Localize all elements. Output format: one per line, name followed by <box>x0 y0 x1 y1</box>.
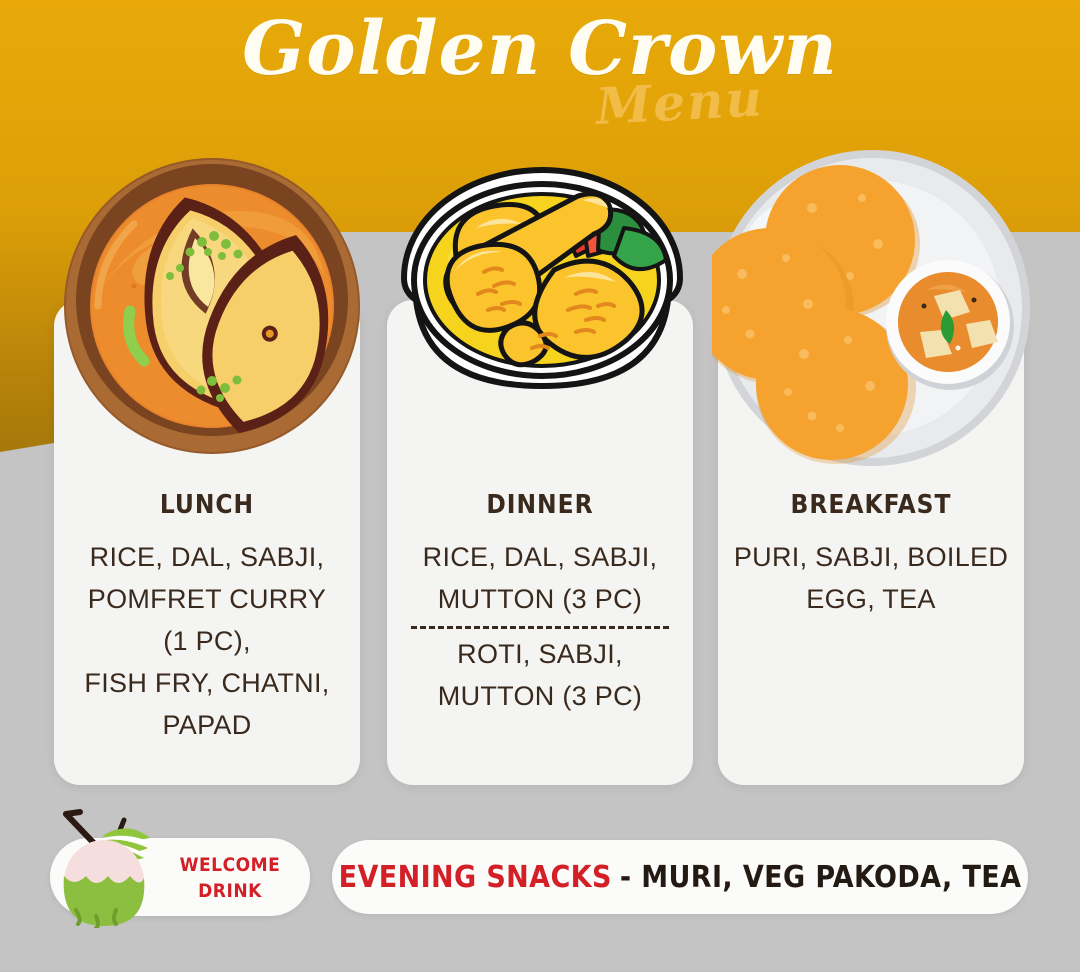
menu-card-lunch: LUNCH RICE, DAL, SABJI, POMFRET CURRY (1… <box>54 300 360 785</box>
welcome-drink-label: WELCOME DRINK <box>160 852 300 904</box>
welcome-drink-pill[interactable]: WELCOME DRINK <box>50 838 310 916</box>
card-line: EGG, TEA <box>726 578 1016 620</box>
card-line: (1 PC), <box>62 620 352 662</box>
card-line: PURI, SABJI, BOILED <box>726 536 1016 578</box>
welcome-drink-line1: WELCOME <box>160 852 300 878</box>
welcome-drink-line2: DRINK <box>160 878 300 904</box>
card-line: MUTTON (3 PC) <box>395 578 685 620</box>
card-text-lunch: LUNCH RICE, DAL, SABJI, POMFRET CURRY (1… <box>54 490 360 746</box>
menu-card-dinner: DINNER RICE, DAL, SABJI, MUTTON (3 PC) R… <box>387 300 693 785</box>
card-text-breakfast: BREAKFAST PURI, SABJI, BOILED EGG, TEA <box>718 490 1024 620</box>
card-line: PAPAD <box>62 704 352 746</box>
card-heading-lunch: LUNCH <box>62 490 352 520</box>
card-line: RICE, DAL, SABJI, <box>62 536 352 578</box>
menu-poster: Golden Crown Menu LUNCH RICE, DAL, SABJI… <box>0 0 1080 972</box>
card-line: ROTI, SABJI, <box>395 633 685 675</box>
card-text-dinner: DINNER RICE, DAL, SABJI, MUTTON (3 PC) R… <box>387 490 693 717</box>
card-heading-breakfast: BREAKFAST <box>726 490 1016 520</box>
evening-snacks-items: - MURI, VEG PAKODA, TEA <box>620 860 1022 895</box>
card-line: FISH FRY, CHATNI, <box>62 662 352 704</box>
card-line: MUTTON (3 PC) <box>395 675 685 717</box>
card-line: POMFRET CURRY <box>62 578 352 620</box>
menu-card-breakfast: BREAKFAST PURI, SABJI, BOILED EGG, TEA <box>718 300 1024 785</box>
evening-snacks-pill[interactable]: EVENING SNACKS - MURI, VEG PAKODA, TEA <box>332 840 1028 914</box>
evening-snacks-label: EVENING SNACKS <box>339 860 612 895</box>
card-line: RICE, DAL, SABJI, <box>395 536 685 578</box>
dinner-option-separator <box>411 626 669 629</box>
card-heading-dinner: DINNER <box>395 490 685 520</box>
